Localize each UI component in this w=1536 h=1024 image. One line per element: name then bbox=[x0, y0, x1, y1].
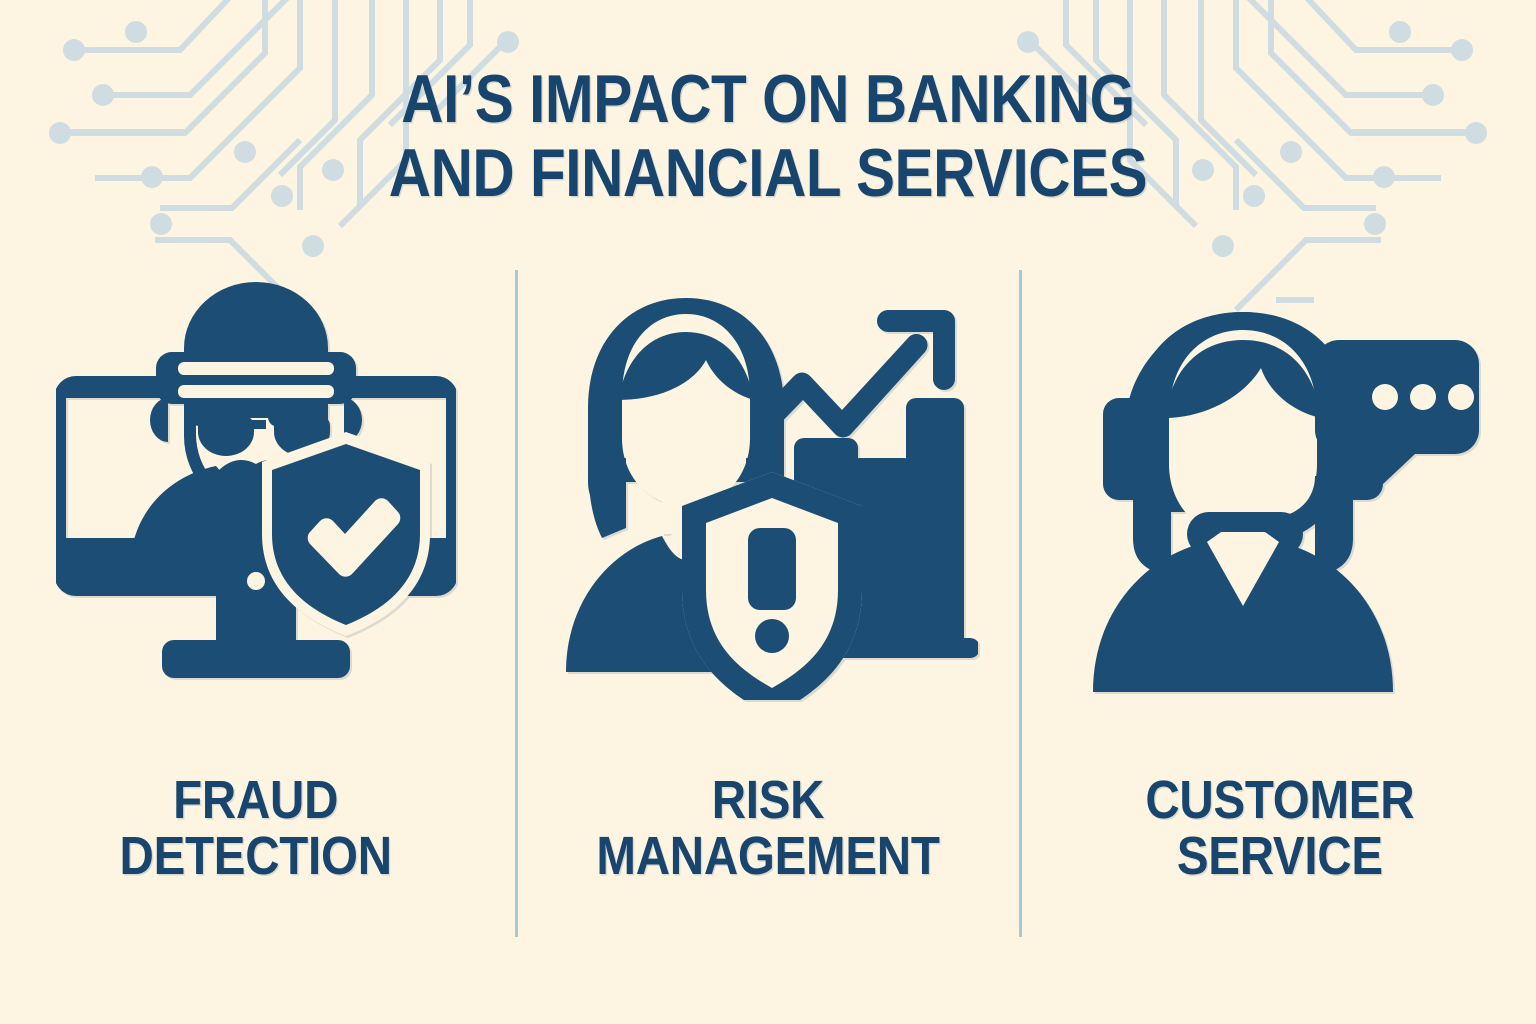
label-fraud-detection: FRAUD DETECTION bbox=[101, 772, 410, 884]
title-line-1: AI’S IMPACT ON BANKING bbox=[108, 62, 1429, 136]
feature-column-risk-management[interactable]: RISK MANAGEMENT bbox=[512, 270, 1024, 940]
column-divider-2 bbox=[1019, 270, 1022, 937]
feature-column-customer-service[interactable]: CUSTOMER SERVICE bbox=[1024, 270, 1536, 940]
label-line-1: FRAUD bbox=[120, 772, 392, 828]
label-line-1: RISK bbox=[596, 772, 939, 828]
feature-column-fraud-detection[interactable]: FRAUD DETECTION bbox=[0, 270, 512, 940]
woman-headset-speech-bubble-icon bbox=[1070, 270, 1490, 710]
title-line-2: AND FINANCIAL SERVICES bbox=[108, 136, 1429, 210]
monitor-thief-shield-check-icon bbox=[46, 270, 466, 710]
label-customer-service: CUSTOMER SERVICE bbox=[1127, 772, 1433, 884]
page-title: AI’S IMPACT ON BANKING AND FINANCIAL SER… bbox=[0, 62, 1536, 210]
label-line-2: MANAGEMENT bbox=[596, 828, 939, 884]
feature-columns: FRAUD DETECTION bbox=[0, 270, 1536, 940]
label-line-2: SERVICE bbox=[1146, 828, 1415, 884]
label-risk-management: RISK MANAGEMENT bbox=[573, 772, 963, 884]
label-line-2: DETECTION bbox=[120, 828, 392, 884]
woman-growth-chart-shield-alert-icon bbox=[558, 270, 978, 710]
infographic-canvas: AI’S IMPACT ON BANKING AND FINANCIAL SER… bbox=[0, 0, 1536, 1024]
label-line-1: CUSTOMER bbox=[1146, 772, 1415, 828]
column-divider-1 bbox=[515, 270, 518, 937]
